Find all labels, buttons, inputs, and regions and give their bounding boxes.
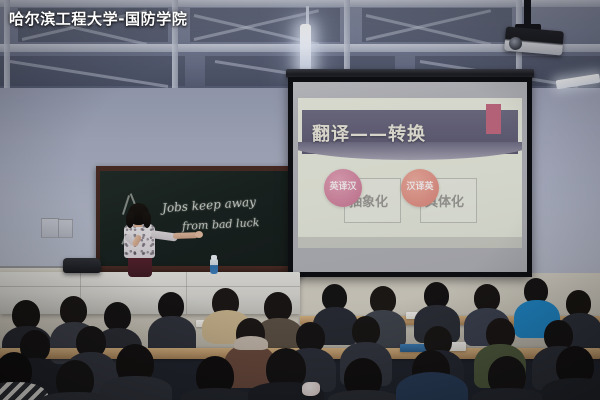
classroom-photo: Jobs keep away from bad luck 翻译——转换 抽象化 … — [0, 0, 600, 400]
slide-title: 翻译——转换 — [312, 120, 426, 146]
crumpled-tissue — [302, 382, 320, 396]
front-podium-desk — [0, 272, 300, 314]
blackboard-text-line1: Jobs keep away — [162, 195, 257, 216]
wall-right-side — [532, 88, 600, 273]
presentation-slide: 翻译——转换 抽象化 英译汉 具体化 汉译英 — [298, 98, 522, 248]
light-switch-plate-2[interactable] — [58, 219, 73, 238]
black-bag[interactable] — [63, 258, 101, 273]
bottle-cap — [211, 255, 217, 260]
projector-mount-pole — [524, 0, 531, 26]
podium-panel-divider-2 — [186, 272, 187, 314]
lamp-rod — [306, 6, 309, 26]
slide-circle-2: 汉译英 — [401, 169, 439, 207]
blackboard-text-line2: from bad luck — [182, 216, 260, 233]
water-bottle[interactable] — [210, 259, 218, 274]
projection-screen-surface: 翻译——转换 抽象化 英译汉 具体化 汉译英 — [293, 82, 527, 272]
watermark-text: 哈尔滨工程大学-国防学院 — [9, 8, 187, 29]
podium-panel-line — [0, 286, 300, 287]
slide-accent-rectangle — [486, 104, 501, 134]
slide-footer-bar — [298, 237, 522, 248]
notebook-blue[interactable] — [400, 344, 426, 352]
light-switch-plate[interactable] — [41, 218, 59, 238]
fluorescent-tube-lamp — [300, 24, 311, 74]
slide-circle-1: 英译汉 — [324, 169, 362, 207]
